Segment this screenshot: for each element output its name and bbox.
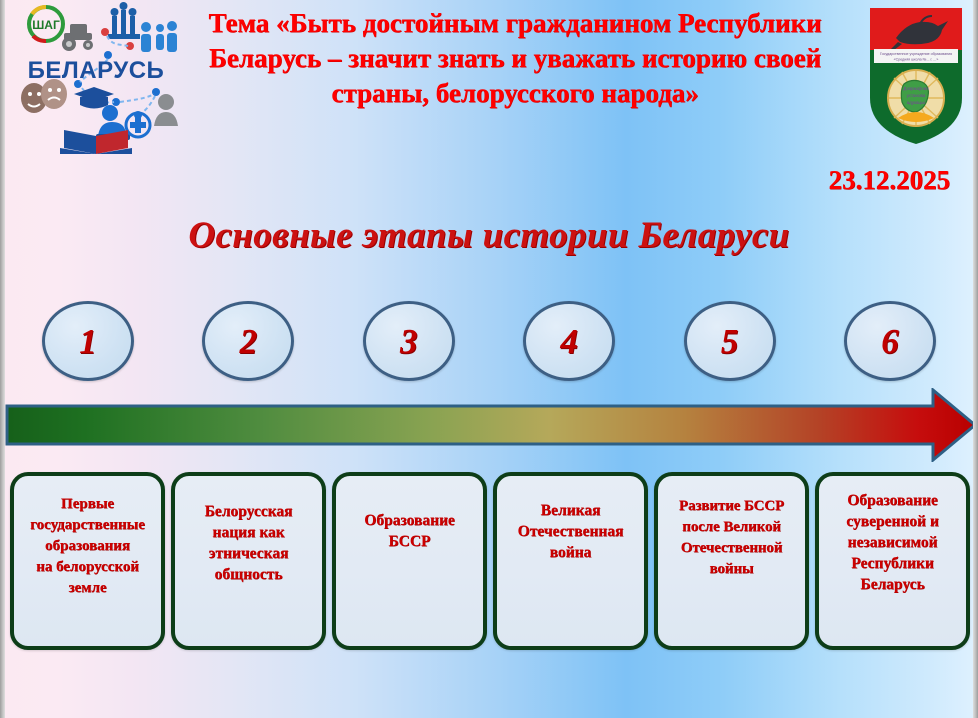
stage-box-text: Белорусская нация как этническая общност… bbox=[175, 501, 322, 585]
svg-text:адукацыі: адукацыі bbox=[907, 100, 926, 105]
wreath-emblem: Дзяржаўная установа адукацыі bbox=[888, 70, 944, 126]
emblem-caption-line2: «Средняя школа №... г. ...» bbox=[894, 58, 939, 62]
stage-box-text: Образование БССР bbox=[336, 510, 483, 552]
stage-box-6[interactable]: Образование суверенной и независимой Рес… bbox=[815, 472, 970, 650]
shag-badge-icon: ШАГ bbox=[29, 7, 63, 41]
open-book-icon bbox=[60, 130, 132, 154]
arrow-shape bbox=[7, 390, 975, 460]
left-edge-strip bbox=[0, 0, 5, 718]
slide-canvas: ШАГ bbox=[0, 0, 978, 718]
stage-number-label: 4 bbox=[560, 324, 578, 359]
stage-box-1[interactable]: Первые государственные образования на бе… bbox=[10, 472, 165, 650]
stage-box-text: Первые государственные образования на бе… bbox=[14, 494, 161, 599]
stage-box-5[interactable]: Развитие БССР после Великой Отечественно… bbox=[654, 472, 809, 650]
stage-number-label: 1 bbox=[79, 324, 97, 359]
stage-box-text: Великая Отечественная война bbox=[497, 500, 644, 563]
shag-belarus-logo: ШАГ bbox=[8, 2, 186, 154]
stage-number-row: 1 2 3 4 5 6 bbox=[12, 300, 966, 382]
stage-number-circle-5[interactable]: 5 bbox=[684, 301, 776, 381]
emblem-caption-line1: Государственное учреждение образования bbox=[880, 52, 952, 56]
industry-icon bbox=[108, 2, 140, 39]
stage-number-circle-6[interactable]: 6 bbox=[844, 301, 936, 381]
stage-number-circle-3[interactable]: 3 bbox=[363, 301, 455, 381]
date-label: 23.12.2025 bbox=[829, 165, 951, 196]
stage-box-4[interactable]: Великая Отечественная война bbox=[493, 472, 648, 650]
theme-title: Тема «Быть достойным гражданином Республ… bbox=[190, 6, 840, 111]
stage-number-label: 5 bbox=[721, 324, 739, 359]
svg-text:Дзяржаўная: Дзяржаўная bbox=[903, 85, 929, 91]
school-emblem: Государственное учреждение образования «… bbox=[864, 2, 968, 148]
stage-box-text: Развитие БССР после Великой Отечественно… bbox=[658, 496, 805, 580]
belarus-wordmark: БЕЛАРУСЬ bbox=[28, 57, 165, 84]
stage-number-circle-4[interactable]: 4 bbox=[523, 301, 615, 381]
right-edge-strip bbox=[973, 0, 978, 718]
stage-box-text: Образование суверенной и независимой Рес… bbox=[819, 490, 966, 595]
stage-box-row: Первые государственные образования на бе… bbox=[10, 472, 970, 652]
stage-number-label: 3 bbox=[400, 324, 418, 359]
timeline-arrow bbox=[5, 388, 977, 462]
svg-text:установа: установа bbox=[907, 93, 926, 98]
person-suit-icon bbox=[154, 94, 178, 126]
family-icon bbox=[141, 21, 177, 52]
stage-number-circle-1[interactable]: 1 bbox=[42, 301, 134, 381]
svg-text:ШАГ: ШАГ bbox=[32, 18, 60, 32]
stage-box-2[interactable]: Белорусская нация как этническая общност… bbox=[171, 472, 326, 650]
stage-number-label: 2 bbox=[240, 324, 258, 359]
stage-box-3[interactable]: Образование БССР bbox=[332, 472, 487, 650]
section-heading: Основные этапы истории Беларуси bbox=[0, 214, 978, 257]
theatre-masks-icon bbox=[21, 79, 67, 113]
tractor-icon bbox=[62, 24, 93, 51]
stage-number-circle-2[interactable]: 2 bbox=[202, 301, 294, 381]
stage-number-label: 6 bbox=[881, 324, 899, 359]
